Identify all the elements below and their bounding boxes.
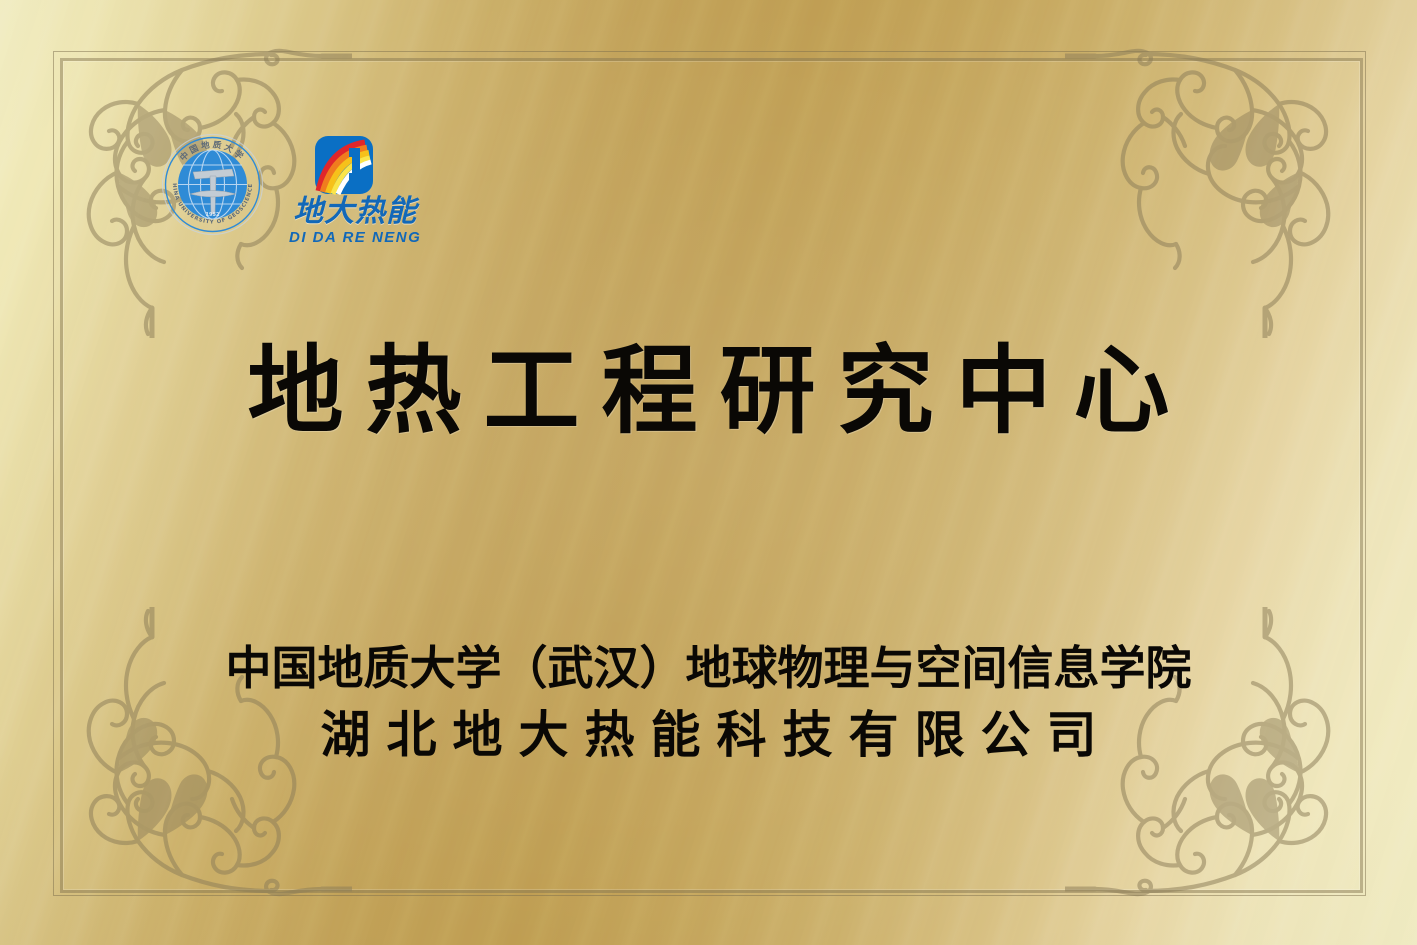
plaque-org-line-company: 湖北地大热能科技有限公司: [0, 705, 1417, 765]
didareneng-chinese-name: 地大热能: [293, 197, 417, 227]
china-university-of-geosciences-seal-icon: 中国地质大学 CHINA UNIVERSITY OF GEOSCIENCES 1…: [160, 132, 265, 237]
plaque-org-line-university: 中国地质大学（武汉）地球物理与空间信息学院: [0, 640, 1417, 696]
svg-text:1952: 1952: [206, 212, 220, 218]
didareneng-pinyin-name: DI DA RE NENG: [289, 230, 421, 245]
logo-row: 中国地质大学 CHINA UNIVERSITY OF GEOSCIENCES 1…: [160, 132, 421, 245]
plaque-main-title: 地热工程研究中心: [0, 336, 1417, 446]
didareneng-logo: 地大热能 DI DA RE NENG: [289, 134, 421, 245]
didareneng-mark-icon: [313, 134, 375, 196]
award-plaque: 中国地质大学 CHINA UNIVERSITY OF GEOSCIENCES 1…: [0, 0, 1417, 945]
